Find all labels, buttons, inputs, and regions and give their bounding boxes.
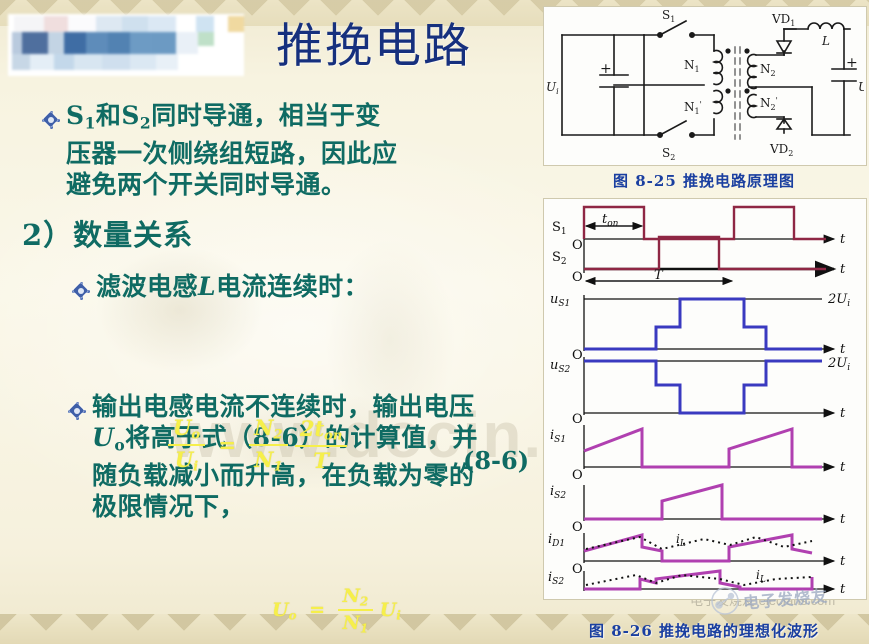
eq1-rhs2-num: 2ton	[295, 416, 347, 444]
trace-is1	[584, 429, 822, 467]
eq1-lhs-den: Ui	[168, 447, 205, 475]
eq1-equals: =	[212, 432, 242, 457]
level-2ui-1: 2Ui	[827, 292, 850, 309]
eq1-rhs1-den: N1	[249, 447, 287, 475]
label-n1: N1	[684, 58, 700, 74]
label-s1: S1	[662, 8, 675, 24]
label-n2-prime: N2'	[760, 96, 778, 112]
slide-canvas: 推挽电路 www.docin.com 电子发烧友 elecfans.com S1…	[0, 0, 869, 644]
axis-t-7: t	[840, 554, 846, 569]
origin-3: O	[572, 348, 583, 363]
origin-2: O	[572, 270, 583, 285]
origin-5: O	[572, 468, 583, 483]
eq2-den: N1	[338, 612, 374, 635]
diamond-bullet-icon	[72, 282, 90, 300]
diamond-bullet-icon	[68, 402, 86, 420]
label-uo: Uo	[858, 80, 864, 96]
label-l: L	[821, 34, 830, 48]
label-is1: iS1	[550, 428, 566, 445]
label-plus-out: +	[846, 55, 858, 71]
label-s1-trace: S1	[552, 220, 567, 237]
trace-us1	[584, 299, 822, 349]
axis-t-1: t	[840, 232, 846, 247]
label-n1-prime: N1'	[684, 100, 702, 116]
axis-t-6: t	[840, 512, 846, 527]
eq1-rhs2-fraction: 2ton T	[295, 416, 347, 473]
origin-4: O	[572, 412, 583, 427]
label-is2-bottom: iS2	[548, 570, 564, 587]
label-s2: S2	[662, 146, 675, 162]
waveform-svg: S1 S2 ton T O O t t uS1 O 2Ui t	[544, 199, 864, 597]
bullet-1-line-3: 避免两个开关同时导通。	[66, 170, 347, 199]
origin-1: O	[572, 238, 583, 253]
label-il-1: iL	[676, 532, 686, 549]
label-period-T: T	[654, 268, 664, 283]
trace-is2-bottom	[584, 571, 812, 589]
trace-id1	[584, 535, 812, 561]
trace-il-dashed-2	[586, 575, 812, 585]
equation-uo-limit: Uo = N2 N1 Ui	[272, 585, 401, 636]
eq2-tail: Ui	[380, 599, 401, 622]
section-heading-2: 2）数量关系	[22, 212, 193, 254]
bullet-3-line-4: 极限情况下，	[92, 492, 245, 521]
trace-us2	[584, 361, 822, 413]
axis-t-4: t	[840, 406, 846, 421]
origin-6: O	[572, 520, 583, 535]
eq1-rhs1-num: N2	[249, 415, 287, 443]
axis-t-5: t	[840, 460, 846, 475]
equation-8-6: Uo Ui = N2 N1 2ton T	[168, 415, 347, 474]
figure-8-26-waveforms: S1 S2 ton T O O t t uS1 O 2Ui t	[543, 198, 867, 600]
label-plus-in: +	[600, 61, 612, 77]
label-vd2: VD2	[769, 142, 793, 158]
eq1-lhs-num: Uo	[168, 415, 205, 443]
eq2-num: N2	[338, 585, 374, 608]
eq1-rhs2-den: T	[295, 448, 347, 473]
bullet-1-line-2: 压器一次侧绕组短路，因此应	[66, 139, 398, 168]
figure-8-25-caption: 图 8-25 推挽电路原理图	[543, 170, 865, 191]
label-vd1: VD1	[771, 12, 795, 28]
origin-7: O	[572, 562, 583, 577]
trace-s1-drive	[584, 207, 826, 239]
trace-s2-drive	[584, 237, 826, 269]
trace-is2	[584, 485, 822, 519]
label-s2-trace: S2	[552, 250, 567, 267]
eq2-equals: =	[303, 599, 331, 621]
bullet-2-text: 滤波电感L电流连续时：	[96, 272, 369, 301]
label-n2: N2	[760, 62, 776, 78]
bullet-item-1: S1和S2同时导通，相当于变 压器一次侧绕组短路，因此应 避免两个开关同时导通。	[66, 100, 466, 200]
label-ton: ton	[602, 212, 619, 229]
label-id1: iD1	[548, 532, 565, 549]
axis-t-2: t	[840, 262, 846, 277]
eq1-rhs1-fraction: N2 N1	[249, 415, 287, 474]
level-2ui-2: 2Ui	[827, 356, 850, 373]
equation-number-8-6: (8-6)	[463, 446, 529, 475]
dot-secondary-bottom	[744, 88, 749, 93]
label-is2: iS2	[550, 484, 566, 501]
blurred-publisher-logo	[8, 14, 244, 76]
axis-t-3: t	[840, 342, 846, 357]
content-column: S1和S2同时导通，相当于变 压器一次侧绕组短路，因此应 避免两个开关同时导通。…	[0, 88, 540, 608]
label-us1: uS1	[550, 292, 570, 309]
dot-primary-top	[725, 48, 730, 53]
dot-secondary-top	[744, 48, 749, 53]
bullet-item-2: 滤波电感L电流连续时：	[96, 271, 476, 302]
schematic-svg: S1 S2 Ui Uo N1 N1' N2 N2' VD1 VD2 L + +	[544, 7, 864, 163]
eq2-fraction: N2 N1	[338, 585, 374, 636]
label-ui: Ui	[546, 80, 559, 96]
page-title: 推挽电路	[276, 22, 546, 71]
label-us2: uS2	[550, 358, 571, 375]
eq1-lhs-fraction: Uo Ui	[168, 415, 205, 474]
bullet-1-line-1: S1和S2同时导通，相当于变	[66, 101, 381, 130]
label-il-2: iL	[756, 568, 766, 585]
figure-8-25-schematic: S1 S2 Ui Uo N1 N1' N2 N2' VD1 VD2 L + +	[543, 6, 867, 166]
figure-8-26-caption: 图 8-26 推挽电路的理想化波形	[543, 620, 865, 641]
diamond-bullet-icon	[42, 111, 60, 129]
axis-t-8: t	[840, 582, 846, 597]
eq2-lhs: Uo	[272, 599, 296, 622]
dot-primary-bottom	[725, 88, 730, 93]
